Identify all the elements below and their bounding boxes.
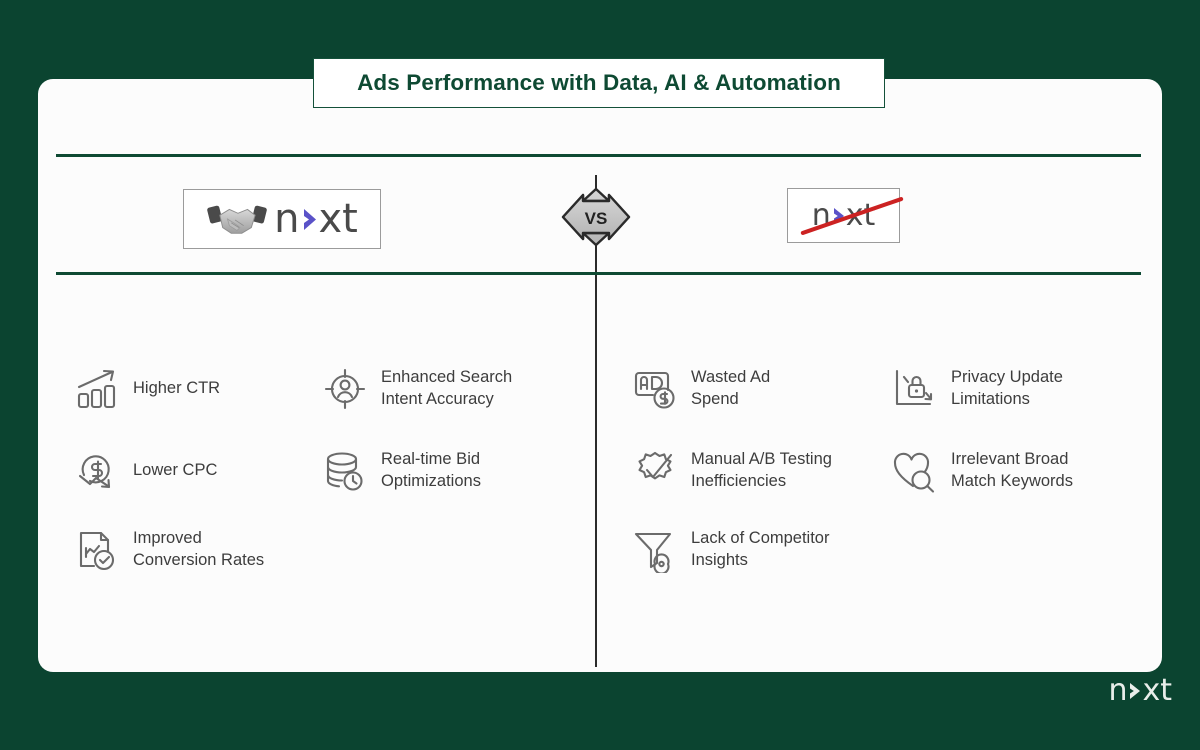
list-item-label: Lower CPC	[133, 460, 217, 482]
list-item-higher-ctr: Higher CTR	[74, 366, 220, 412]
list-item-label: Manual A/B Testing Inefficiencies	[691, 449, 832, 493]
list-item-improved-conversion-rates: Improved Conversion Rates	[74, 527, 264, 573]
dollar-circle-down-arrow-icon	[74, 448, 120, 494]
list-item-manual-ab-testing: Manual A/B Testing Inefficiencies	[632, 448, 832, 494]
heart-search-icon	[892, 448, 938, 494]
chart-lock-down-icon	[892, 366, 938, 412]
list-item-label: Higher CTR	[133, 378, 220, 400]
logo-box-next-struck: n xt	[787, 188, 900, 243]
list-item-privacy-update-limitations: Privacy Update Limitations	[892, 366, 1063, 412]
chevron-right-icon	[1128, 682, 1141, 700]
svg-text:VS: VS	[585, 209, 608, 228]
divider-vertical	[595, 175, 597, 667]
list-item-enhanced-search-intent: Enhanced Search Intent Accuracy	[322, 366, 512, 412]
list-item-lower-cpc: Lower CPC	[74, 448, 217, 494]
vs-badge: VS	[561, 186, 631, 248]
ad-banner-dollar-icon	[632, 366, 678, 412]
list-item-label: Privacy Update Limitations	[951, 367, 1063, 411]
list-item-irrelevant-broad-match-keywords: Irrelevant Broad Match Keywords	[892, 448, 1073, 494]
slide-canvas: Ads Performance with Data, AI & Automati…	[0, 0, 1200, 750]
list-item-wasted-ad-spend: Wasted Ad Spend	[632, 366, 770, 412]
list-item-label: Irrelevant Broad Match Keywords	[951, 449, 1073, 493]
watermark-suffix: xt	[1142, 676, 1172, 706]
list-item-realtime-bid-optimizations: Real-time Bid Optimizations	[322, 448, 481, 494]
handshake-icon	[206, 198, 268, 240]
chevron-right-icon	[301, 208, 318, 231]
list-item-label: Improved Conversion Rates	[133, 528, 264, 572]
list-item-label: Lack of Competitor Insights	[691, 528, 829, 572]
divider-top	[56, 154, 1141, 157]
database-clock-icon	[322, 448, 368, 494]
gear-check-icon	[632, 448, 678, 494]
wordmark-suffix: xt	[319, 199, 358, 239]
target-person-icon	[322, 366, 368, 412]
watermark-prefix: n	[1108, 676, 1127, 706]
funnel-eye-icon	[632, 527, 678, 573]
page-title-text: Ads Performance with Data, AI & Automati…	[357, 70, 841, 96]
list-item-lack-of-competitor-insights: Lack of Competitor Insights	[632, 527, 829, 573]
footer-watermark: n xt	[1108, 676, 1172, 706]
list-item-label: Real-time Bid Optimizations	[381, 449, 481, 493]
logo-box-with-next: n xt	[183, 189, 381, 249]
list-item-label: Wasted Ad Spend	[691, 367, 770, 411]
page-title: Ads Performance with Data, AI & Automati…	[313, 58, 885, 108]
wordmark-prefix: n	[274, 199, 299, 239]
divider-bottom	[56, 272, 1141, 275]
list-item-label: Enhanced Search Intent Accuracy	[381, 367, 512, 411]
document-chart-check-icon	[74, 527, 120, 573]
bar-chart-growth-icon	[74, 366, 120, 412]
next-wordmark: n xt	[274, 199, 358, 239]
